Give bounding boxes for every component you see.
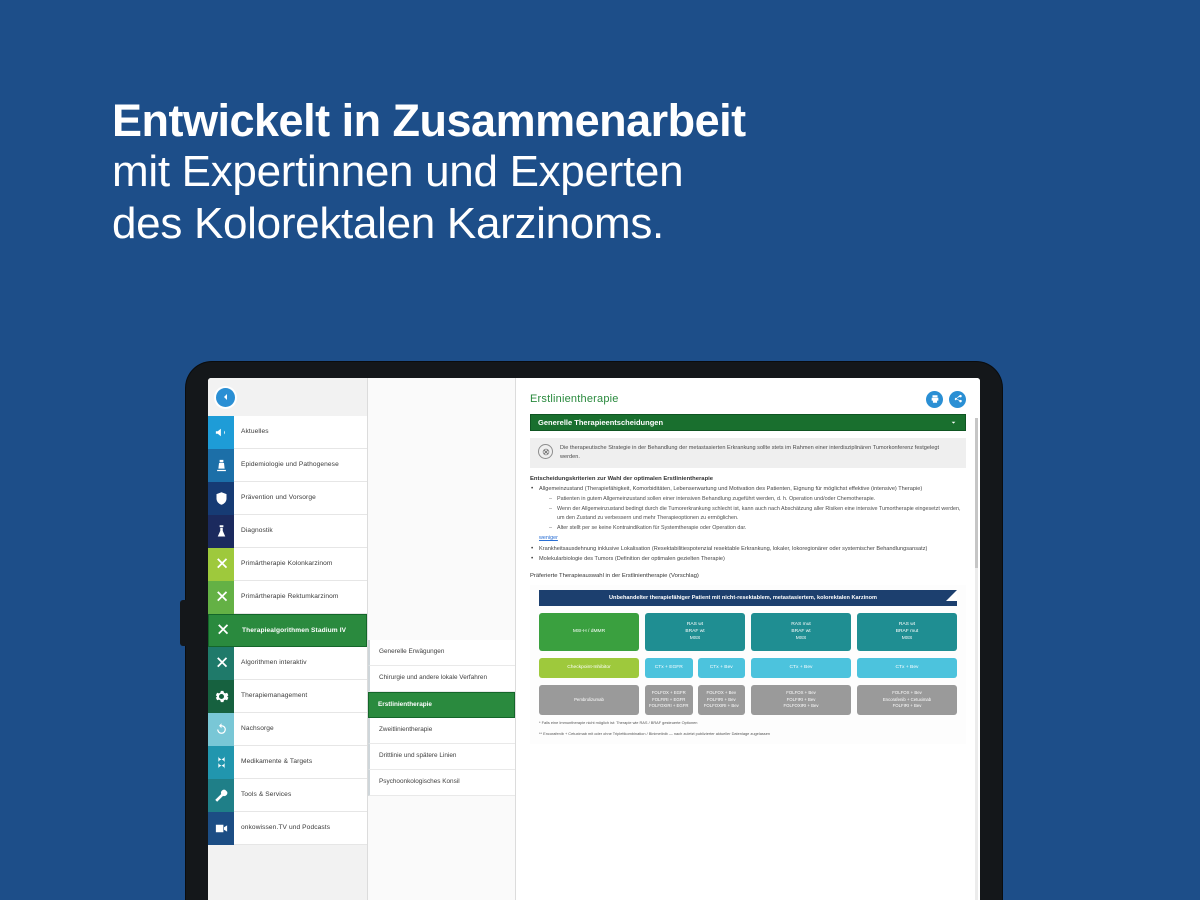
- subnav-item-list: Generelle ErwägungenChirurgie und andere…: [368, 640, 515, 796]
- scrollbar-thumb[interactable]: [975, 418, 978, 568]
- content-header: Erstlinientherapie: [530, 378, 966, 414]
- gear-icon: [208, 680, 234, 713]
- status-box-3: RAS mutBRAF wtMSS: [751, 613, 851, 651]
- status-box-4: RAS wtBRAF mutMSS: [857, 613, 957, 651]
- chevron-down-icon: [949, 418, 958, 427]
- flowchart-status-cell: RAS mutBRAF wtMSS: [751, 613, 851, 651]
- collapse-link[interactable]: weniger: [539, 534, 558, 543]
- list-item: Molekularbiologie des Tumors (Definition…: [530, 555, 966, 564]
- microscope-icon: [208, 449, 234, 482]
- megaphone-icon: [208, 416, 234, 449]
- chart-caption: Präferierte Therapieauswahl in der Erstl…: [530, 573, 966, 579]
- flowchart-therapy-cell: Checkpoint-Inhibitor: [539, 658, 639, 678]
- sidebar-nav: AktuellesEpidemiologie und PathogenesePr…: [208, 378, 368, 900]
- regimen-box-4-1: FOLFOX + BevEncorafenib + CetuximabFOLFI…: [857, 685, 957, 715]
- regimen-group: Pembrolizumab: [539, 685, 639, 715]
- sidebar-item-label: Therapiemanagement: [234, 692, 307, 700]
- accordion-generelle-therapieentscheidungen[interactable]: Generelle Therapieentscheidungen: [530, 414, 966, 431]
- accordion-label: Generelle Therapieentscheidungen: [538, 418, 663, 427]
- video-icon: [208, 812, 234, 845]
- status-box-1: MSI-H / dMMR: [539, 613, 639, 651]
- shield-icon: [208, 482, 234, 515]
- list-item: Patienten in gutem Allgemeinzustand soll…: [549, 495, 966, 504]
- sidebar-item-label: Aktuelles: [234, 428, 269, 436]
- content-scrollbar[interactable]: [975, 418, 978, 900]
- flowchart-regimen-cell: FOLFOX + EGFRFOLFIRI + EGFRFOLFOXIRI + E…: [645, 685, 745, 715]
- regimen-group: FOLFOX + EGFRFOLFIRI + EGFRFOLFOXIRI + E…: [645, 685, 745, 715]
- info-callout-text: Die therapeutische Strategie in der Beha…: [560, 444, 958, 462]
- sidebar-item-label: onkowissen.TV und Podcasts: [234, 824, 330, 832]
- tablet-device-frame: AktuellesEpidemiologie und PathogenesePr…: [186, 362, 1002, 900]
- flowchart-therapy-cell: CTx + Bev: [751, 658, 851, 678]
- flowchart-title: Unbehandelter therapiefähiger Patient mi…: [539, 590, 957, 606]
- page-title: Erstlinientherapie: [530, 393, 619, 405]
- therapy-box-2-2: CTx + Bev: [698, 658, 746, 678]
- status-box-2: RAS wtBRAF wtMSS: [645, 613, 745, 651]
- sidebar-item-7[interactable]: Therapiealgorithmen Stadium IV: [208, 614, 367, 647]
- molecule-icon: [209, 614, 235, 647]
- content-panel: Erstlinientherapie Generelle Therapieent…: [516, 378, 980, 900]
- subnav-item-1[interactable]: Generelle Erwägungen: [368, 640, 515, 666]
- regimen-box-3-1: FOLFOX + BevFOLFIRI + BevFOLFOXIRI + Bev: [751, 685, 851, 715]
- flowchart-status-cell: MSI-H / dMMR: [539, 613, 639, 651]
- back-arrow-icon[interactable]: [216, 388, 235, 407]
- share-icon[interactable]: [949, 391, 966, 408]
- sidebar-item-label: Tools & Services: [234, 791, 291, 799]
- back-bar: [208, 378, 367, 416]
- flowchart-footnote-2: ** Encorafenib + Cetuximab mit oder ohne…: [539, 731, 957, 737]
- sidebar-item-12[interactable]: Tools & Services: [208, 779, 367, 812]
- criteria-list: Allgemeinzustand (Therapiefähigkeit, Kom…: [530, 485, 966, 563]
- flowchart-footnote-1: * Falls eine Immuntherapie nicht möglich…: [539, 720, 957, 726]
- refresh-icon: [208, 713, 234, 746]
- therapy-flowchart: Unbehandelter therapiefähiger Patient mi…: [530, 585, 966, 745]
- sidebar-item-label: Nachsorge: [234, 725, 274, 733]
- flowchart-regimen-cell: FOLFOX + BevFOLFIRI + BevFOLFOXIRI + Bev: [751, 685, 851, 715]
- regimen-group: FOLFOX + BevFOLFIRI + BevFOLFOXIRI + Bev: [751, 685, 851, 715]
- print-icon[interactable]: [926, 391, 943, 408]
- flowchart-regimen-row: PembrolizumabFOLFOX + EGFRFOLFIRI + EGFR…: [539, 685, 957, 715]
- sidebar-item-label: Epidemiologie und Pathogenese: [234, 461, 339, 469]
- subnav-item-3[interactable]: Erstlinientherapie: [368, 692, 515, 718]
- section-heading: Entscheidungskriterien zur Wahl der opti…: [530, 476, 966, 482]
- flowchart-therapy-cell: CTx + EGFRCTx + Bev: [645, 658, 745, 678]
- sidebar-item-13[interactable]: onkowissen.TV und Podcasts: [208, 812, 367, 845]
- sidebar-subnav: Generelle ErwägungenChirurgie und andere…: [368, 378, 516, 900]
- info-callout: Die therapeutische Strategie in der Beha…: [530, 438, 966, 468]
- sidebar-item-3[interactable]: Prävention und Vorsorge: [208, 482, 367, 515]
- sidebar-item-label: Diagnostik: [234, 527, 273, 535]
- sidebar-item-label: Therapiealgorithmen Stadium IV: [235, 627, 346, 635]
- tablet-screen: AktuellesEpidemiologie und PathogenesePr…: [208, 378, 980, 900]
- bullet-text: Allgemeinzustand (Therapiefähigkeit, Kom…: [539, 486, 922, 492]
- wrench-icon: [208, 779, 234, 812]
- therapy-group: CTx + Bev: [751, 658, 851, 678]
- flask-icon: [208, 515, 234, 548]
- regimen-group: FOLFOX + BevEncorafenib + CetuximabFOLFI…: [857, 685, 957, 715]
- promo-slide: Entwickelt in Zusammenarbeit mit Experti…: [0, 0, 1200, 900]
- regimen-box-1-1: Pembrolizumab: [539, 685, 639, 715]
- dna-icon: [208, 746, 234, 779]
- sidebar-item-11[interactable]: Medikamente & Targets: [208, 746, 367, 779]
- list-item: Krankheitsausdehnung inklusive Lokalisat…: [530, 545, 966, 554]
- headline-line-1: Entwickelt in Zusammenarbeit: [112, 96, 1012, 146]
- flowchart-therapy-row: Checkpoint-InhibitorCTx + EGFRCTx + BevC…: [539, 658, 957, 678]
- headline-line-2: mit Expertinnen und Experten: [112, 146, 1012, 198]
- subnav-item-5[interactable]: Drittlinie und spätere Linien: [368, 744, 515, 770]
- regimen-box-2-1: FOLFOX + EGFRFOLFIRI + EGFRFOLFOXIRI + E…: [645, 685, 693, 715]
- sidebar-item-label: Primärtherapie Rektumkarzinom: [234, 593, 338, 601]
- regimen-box-2-2: FOLFOX + BevFOLFIRI + BevFOLFOXIRI + Bev: [698, 685, 746, 715]
- tumorboard-icon: [538, 444, 553, 459]
- headline-block: Entwickelt in Zusammenarbeit mit Experti…: [112, 96, 1012, 250]
- molecule-icon: [208, 581, 234, 614]
- sidebar-item-4[interactable]: Diagnostik: [208, 515, 367, 548]
- sidebar-item-1[interactable]: Aktuelles: [208, 416, 367, 449]
- therapy-group: CTx + EGFRCTx + Bev: [645, 658, 745, 678]
- flowchart-regimen-cell: FOLFOX + BevEncorafenib + CetuximabFOLFI…: [857, 685, 957, 715]
- list-item: Wenn der Allgemeinzustand bedingt durch …: [549, 505, 966, 523]
- list-item: Allgemeinzustand (Therapiefähigkeit, Kom…: [530, 485, 966, 543]
- therapy-group: CTx + Bev: [857, 658, 957, 678]
- molecule-icon: [208, 548, 234, 581]
- therapy-box-3-1: CTx + Bev: [751, 658, 851, 678]
- sidebar-item-list: AktuellesEpidemiologie und PathogenesePr…: [208, 416, 367, 845]
- flowchart-status-row: MSI-H / dMMRRAS wtBRAF wtMSSRAS mutBRAF …: [539, 613, 957, 651]
- sidebar-item-2[interactable]: Epidemiologie und Pathogenese: [208, 449, 367, 482]
- sidebar-item-9[interactable]: Therapiemanagement: [208, 680, 367, 713]
- therapy-box-4-1: CTx + Bev: [857, 658, 957, 678]
- flowchart-therapy-cell: CTx + Bev: [857, 658, 957, 678]
- subnav-item-6[interactable]: Psychoonkologisches Konsil: [368, 770, 515, 796]
- therapy-box-1-1: Checkpoint-Inhibitor: [539, 658, 639, 678]
- flowchart-status-cell: RAS wtBRAF wtMSS: [645, 613, 745, 651]
- criteria-sublist: Patienten in gutem Allgemeinzustand soll…: [549, 495, 966, 532]
- therapy-group: Checkpoint-Inhibitor: [539, 658, 639, 678]
- subnav-item-2[interactable]: Chirurgie und andere lokale Verfahren: [368, 666, 515, 692]
- sidebar-item-label: Primärtherapie Kolonkarzinom: [234, 560, 333, 568]
- sidebar-item-label: Algorithmen interaktiv: [234, 659, 307, 667]
- sidebar-item-label: Medikamente & Targets: [234, 758, 312, 766]
- sidebar-item-8[interactable]: Algorithmen interaktiv: [208, 647, 367, 680]
- therapy-box-2-1: CTx + EGFR: [645, 658, 693, 678]
- header-actions: [926, 391, 966, 408]
- headline-line-3: des Kolorektalen Karzinoms.: [112, 198, 1012, 250]
- sidebar-item-label: Prävention und Vorsorge: [234, 494, 316, 502]
- molecule-icon: [208, 647, 234, 680]
- sidebar-item-6[interactable]: Primärtherapie Rektumkarzinom: [208, 581, 367, 614]
- sidebar-item-10[interactable]: Nachsorge: [208, 713, 367, 746]
- subnav-item-4[interactable]: Zweitlinientherapie: [368, 718, 515, 744]
- sidebar-item-5[interactable]: Primärtherapie Kolonkarzinom: [208, 548, 367, 581]
- list-item: Alter stellt per se keine Kontraindikati…: [549, 524, 966, 533]
- flowchart-status-cell: RAS wtBRAF mutMSS: [857, 613, 957, 651]
- flowchart-regimen-cell: Pembrolizumab: [539, 685, 639, 715]
